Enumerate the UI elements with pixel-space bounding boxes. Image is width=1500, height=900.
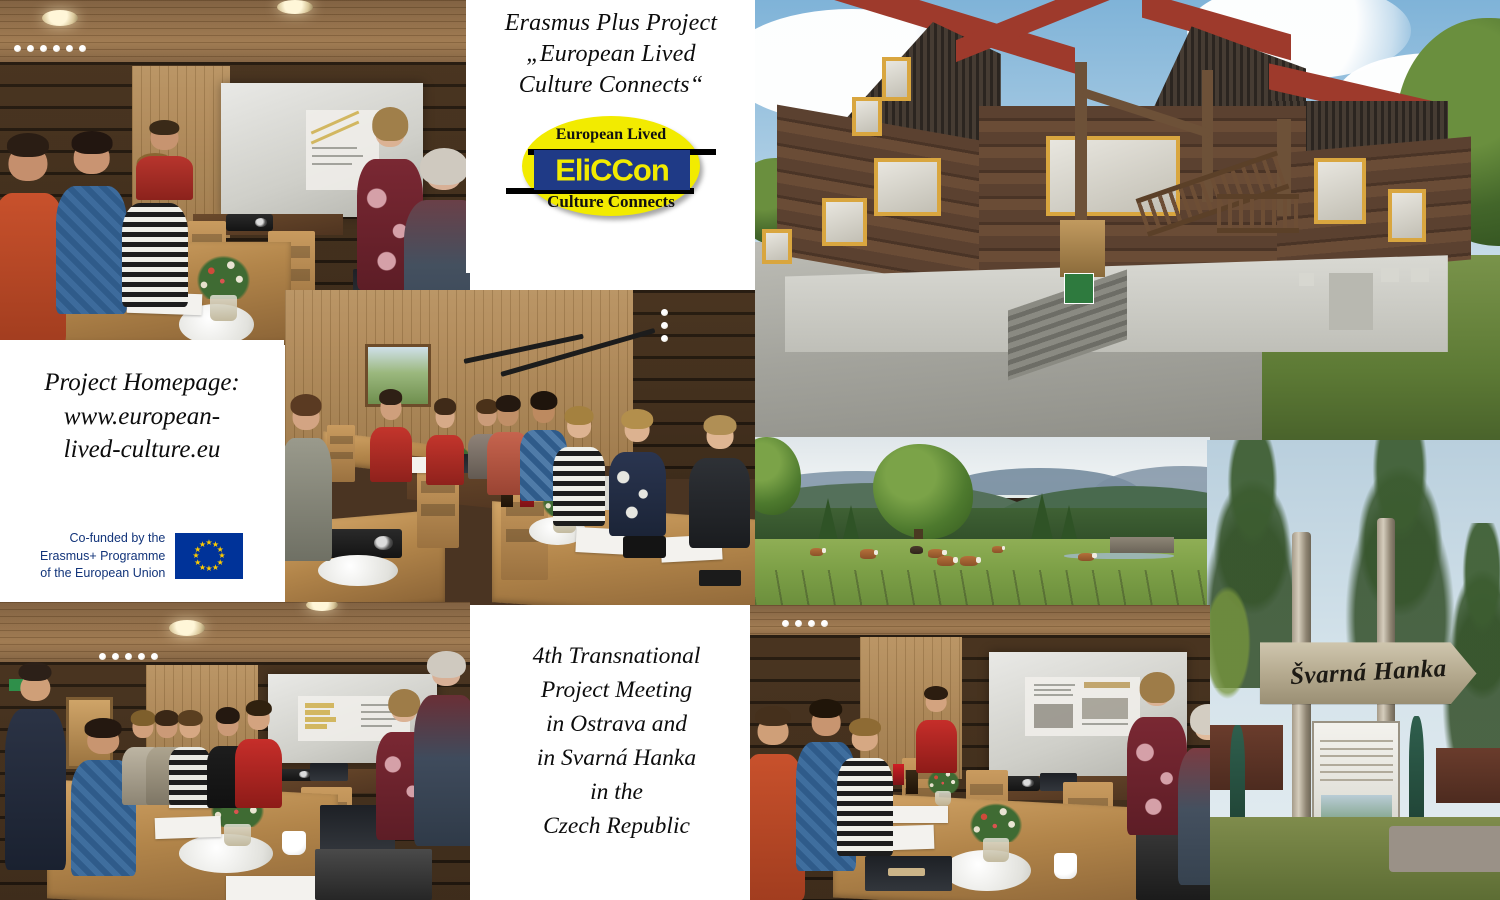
svarna-hanka-sign: Švarná Hanka [1260, 642, 1477, 704]
svarna-hanka-sign-text: Švarná Hanka [1289, 655, 1447, 691]
cow [810, 548, 824, 557]
logo-bottom-text: Culture Connects [506, 192, 716, 212]
person-seated [837, 726, 892, 856]
basement-window [1381, 268, 1400, 281]
closed-parasol [1409, 716, 1424, 826]
person-standing [426, 403, 464, 485]
title-panel: Erasmus Plus Project „European Lived Cul… [466, 0, 756, 273]
printed-paper [155, 815, 221, 838]
photo-meeting-room-presentation-bottom-right [750, 605, 1210, 900]
meeting-line-4: in Svarná Hanka [533, 741, 701, 775]
person-standing-left [285, 403, 332, 561]
photo-wooden-guesthouse-exterior [755, 0, 1500, 440]
projected-slide [1025, 677, 1140, 736]
person-standing-red [235, 706, 282, 807]
window [852, 97, 882, 137]
meeting-line-6: Czech Republic [533, 809, 701, 843]
logo-wordmark: EliCCon [534, 154, 690, 185]
ceiling-lamp [169, 620, 205, 636]
porch-railing [1217, 194, 1299, 234]
cow [1078, 553, 1094, 562]
printed-paper [883, 806, 947, 824]
window [1388, 189, 1425, 242]
person-seated [609, 416, 665, 536]
person-standing [370, 394, 412, 482]
meeting-info-text: 4th Transnational Project Meeting in Ost… [523, 639, 711, 843]
person-standing [5, 674, 66, 871]
window [1314, 158, 1366, 224]
cow [960, 556, 978, 566]
cow [937, 556, 955, 566]
laptop [310, 763, 348, 781]
eu-star-icon: ★ [205, 565, 212, 573]
flower-bouquet [966, 800, 1026, 862]
ceiling-spot-lights [782, 620, 828, 627]
logo-wordmark-plate: EliCCon [534, 150, 690, 190]
window [822, 198, 867, 246]
person-standing-back [136, 124, 192, 200]
cow [910, 546, 924, 555]
homepage-line-3: lived-culture.eu [44, 433, 240, 467]
cow [860, 549, 876, 558]
cow [992, 546, 1003, 553]
window [874, 158, 941, 215]
cup [282, 831, 306, 855]
printed-paper [226, 876, 325, 900]
closed-parasol [1230, 725, 1245, 826]
person-standing-red [916, 691, 957, 774]
farm-building [1110, 537, 1174, 552]
project-headline: Erasmus Plus Project „European Lived Cul… [505, 8, 717, 102]
soda-bottle [893, 764, 905, 785]
eu-cofunding-block: Co-funded by the Erasmus+ Programme of t… [40, 530, 243, 583]
shrub [1207, 578, 1254, 707]
person-seated [553, 413, 605, 526]
cup [1054, 853, 1077, 880]
eu-flag-icon: ★★★★★★★★★★★★ [175, 533, 243, 579]
meeting-line-3: in Ostrava and [533, 707, 701, 741]
person-foreground [414, 662, 470, 847]
window [762, 229, 792, 264]
person-seated [689, 422, 750, 548]
tablet [699, 570, 741, 586]
homepage-panel: Project Homepage: www.european- lived-cu… [0, 340, 284, 605]
meeting-line-2: Project Meeting [533, 673, 701, 707]
meeting-info-panel: 4th Transnational Project Meeting in Ost… [478, 613, 755, 900]
photo-collage: Erasmus Plus Project „European Lived Cul… [0, 0, 1500, 900]
photo-meeting-room-participants-middle [285, 290, 755, 605]
basement-window [1299, 273, 1314, 286]
wall-lights [661, 309, 668, 342]
foreground-fence [755, 570, 1210, 607]
project-homepage-text: Project Homepage: www.european- lived-cu… [30, 366, 254, 467]
laptop-open [315, 849, 433, 900]
meeting-line-1: 4th Transnational [533, 639, 701, 673]
headline-line-1: Erasmus Plus Project [505, 8, 717, 39]
wooden-hut-right [1436, 748, 1500, 803]
person-foreground [1178, 714, 1210, 885]
person-seated [56, 141, 127, 314]
logo-top-text: European Lived [506, 126, 716, 144]
headline-line-3: Culture Connects“ [505, 70, 717, 101]
eu-cofunding-text: Co-funded by the Erasmus+ Programme of t… [40, 530, 165, 583]
green-sign [1064, 273, 1094, 304]
projector [226, 214, 273, 231]
headline-line-2: „European Lived [505, 39, 717, 70]
bottle [906, 770, 918, 794]
homepage-line-1: Project Homepage: [44, 366, 240, 400]
stone-wall [1389, 826, 1500, 872]
wooden-info-box [1060, 220, 1105, 277]
basement-door [1329, 273, 1374, 330]
eliccon-logo: European Lived EliCCon Culture Connects [506, 112, 716, 220]
ceiling-spot-lights [14, 45, 86, 52]
window [882, 57, 912, 101]
wooden-hut-left [1207, 725, 1283, 789]
projector [327, 529, 402, 557]
photo-svarna-hanka-signpost: Švarná Hanka [1207, 440, 1500, 900]
eu-star-icon: ★ [199, 541, 206, 549]
homepage-line-2: www.european- [44, 400, 240, 434]
person-standing [169, 715, 211, 804]
photo-meeting-room-break-bottom-left [0, 602, 470, 900]
camera [623, 536, 665, 558]
ceiling-spot-lights [99, 653, 158, 660]
eu-star-icon: ★ [212, 564, 219, 572]
smartphone [888, 868, 925, 877]
meeting-line-5: in the [533, 775, 701, 809]
basement-window [1411, 268, 1430, 281]
photo-pasture-with-cattle [755, 437, 1210, 607]
